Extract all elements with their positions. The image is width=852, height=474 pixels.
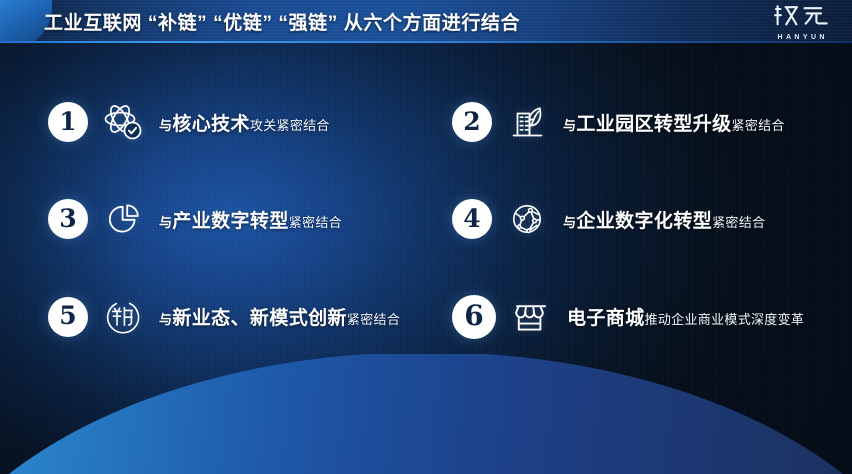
globe-network-icon	[503, 197, 551, 241]
item-number-badge: 2	[452, 102, 492, 142]
item-label-strong: 新业态、新模式创新	[172, 303, 347, 330]
list-item[interactable]: 2 与工业园区转型升级紧密结合	[452, 91, 852, 153]
items-grid: 1 与核心技术攻关紧密结合 2	[0, 43, 852, 383]
item-label: 与工业园区转型升级紧密结合	[563, 109, 785, 136]
item-label-prefix: 与	[159, 115, 172, 134]
item-label-strong: 企业数字化转型	[576, 206, 712, 233]
item-label-suffix: 推动企业商业模式深度变革	[645, 309, 805, 328]
item-label-prefix: 与	[563, 115, 576, 134]
list-item[interactable]: 4 与企业数字化转型紧密结合	[452, 188, 852, 250]
hanyun-logo-icon	[773, 3, 829, 33]
item-number-badge: 6	[452, 295, 496, 339]
pie-chart-icon	[99, 197, 147, 241]
item-label-prefix: 与	[159, 212, 172, 231]
item-label: 与核心技术攻关紧密结合	[159, 109, 330, 136]
hanyun-logo: HANYUN	[762, 2, 840, 42]
item-label-strong: 工业园区转型升级	[576, 109, 731, 136]
item-label-suffix: 紧密结合	[347, 309, 400, 328]
item-label-strong: 产业数字转型	[172, 206, 288, 233]
bottom-arc-shape	[0, 354, 852, 474]
item-label-suffix: 紧密结合	[712, 212, 765, 231]
item-label-suffix: 攻关紧密结合	[250, 115, 330, 134]
list-item[interactable]: 1 与核心技术攻关紧密结合	[48, 91, 448, 153]
item-label-strong: 电子商城	[567, 303, 645, 330]
list-item[interactable]: 3 与产业数字转型紧密结合	[48, 188, 448, 250]
item-label: 与新业态、新模式创新紧密结合	[159, 303, 400, 330]
item-number-badge: 1	[48, 102, 88, 142]
xin-circle-icon	[99, 295, 147, 339]
item-label-suffix: 紧密结合	[289, 212, 342, 231]
item-number-badge: 5	[48, 297, 88, 337]
item-number-badge: 3	[48, 199, 88, 239]
list-item[interactable]: 5 与新业态、新模式创新紧密结合	[48, 286, 448, 348]
item-number-badge: 4	[452, 199, 492, 239]
slide-root: 工业互联网 “补链” “优链” “强链” 从六个方面进行结合 HANYUN	[0, 0, 852, 474]
building-leaf-icon	[503, 100, 551, 144]
logo-wordmark: HANYUN	[774, 34, 828, 41]
list-item[interactable]: 6 电子商城推动企业商业模式深度变革	[452, 286, 852, 348]
item-label: 与产业数字转型紧密结合	[159, 206, 342, 233]
item-label-prefix: 与	[159, 309, 172, 328]
item-label-prefix: 与	[563, 212, 576, 231]
bottom-curved-arc	[0, 354, 852, 474]
page-title: 工业互联网 “补链” “优链” “强链” 从六个方面进行结合	[44, 0, 520, 43]
atom-check-icon	[99, 100, 147, 144]
storefront-icon	[507, 295, 555, 339]
item-label: 与企业数字化转型紧密结合	[563, 206, 765, 233]
item-label: 电子商城推动企业商业模式深度变革	[567, 303, 804, 330]
item-label-strong: 核心技术	[172, 109, 250, 136]
item-label-suffix: 紧密结合	[732, 115, 785, 134]
